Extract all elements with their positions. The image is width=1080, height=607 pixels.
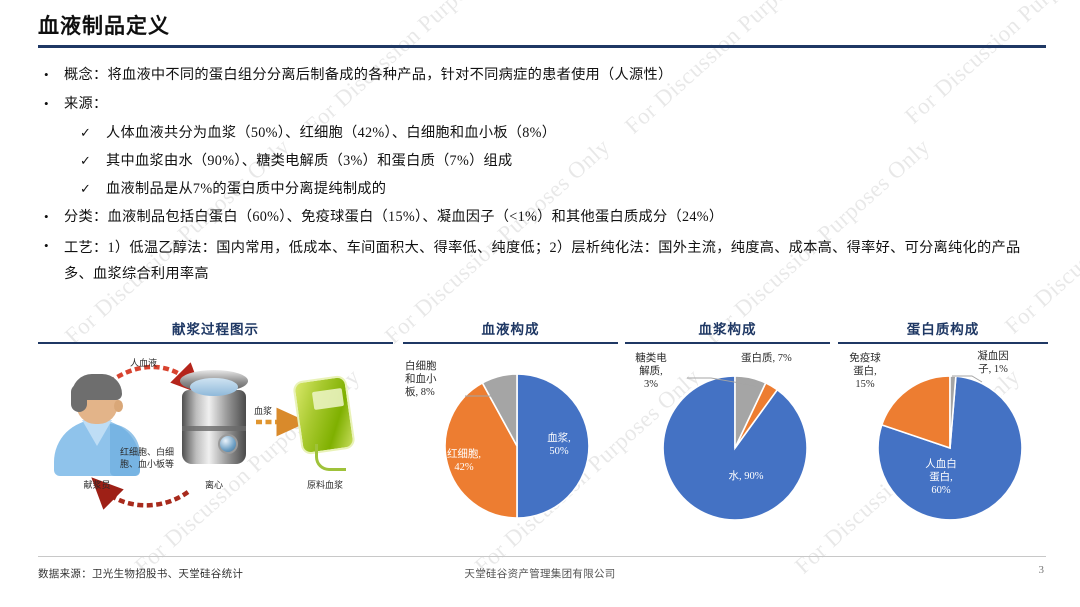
charts-row: 献浆过程图示 <box>0 322 1080 537</box>
sub-bullet-text: 其中血浆由水（90%）、糖类电解质（3%）和蛋白质（7%）组成 <box>106 150 513 172</box>
plasma-bag-icon <box>293 378 355 472</box>
label-return-flow: 红细胞、白细胞、血小板等 <box>114 446 180 470</box>
check-icon: ✓ <box>80 122 106 144</box>
sub-bullet-text: 人体血液共分为血浆（50%）、红细胞（42%）、白细胞和血小板（8%） <box>106 122 556 144</box>
centrifuge-icon <box>178 370 250 474</box>
centrifuge-knob <box>218 434 238 454</box>
bullet-text: 工艺：1）低温乙醇法：国内常用，低成本、车间面积大、得率低、纯度低；2）层析纯化… <box>64 235 1029 287</box>
bullet-source: • 来源： <box>38 93 1048 115</box>
pie-label-rbc: 红细胞, 42% <box>433 448 495 474</box>
panel-divider <box>403 342 618 344</box>
bullet-classification: • 分类：血液制品包括白蛋白（60%）、免疫球蛋白（15%）、凝血因子（<1%）… <box>38 206 1048 228</box>
centrifuge-band <box>182 426 246 431</box>
sub-bullet-purification: ✓ 血液制品是从7%的蛋白质中分离提纯制成的 <box>38 178 1048 200</box>
panel-blood-composition: 血液构成 血浆, 50% <box>403 322 618 528</box>
panel-title: 血浆构成 <box>625 322 830 338</box>
label-raw-plasma: 原料血浆 <box>284 478 366 491</box>
bullet-text: 分类：血液制品包括白蛋白（60%）、免疫球蛋白（15%）、凝血因子（<1%）和其… <box>64 206 723 228</box>
panel-protein-composition: 蛋白质构成 人血白 蛋白, 60 <box>838 322 1048 528</box>
footer-company: 天堂硅谷资产管理集团有限公司 <box>0 566 1080 581</box>
donor-ear <box>114 400 123 412</box>
label-plasma-flow: 血浆 <box>254 404 272 417</box>
pie-label-plasma: 血浆, 50% <box>531 432 587 458</box>
donor-sideburn <box>71 384 87 412</box>
pie-label-water: 水, 90% <box>711 470 781 483</box>
bullet-concept: • 概念：将血液中不同的蛋白组分分离后制备成的各种产品，针对不同病症的患者使用（… <box>38 64 1048 86</box>
pie-label-albumin: 人血白 蛋白, 60% <box>908 458 974 497</box>
label-blood-flow: 人血液 <box>130 356 157 369</box>
label-centrifuge: 离心 <box>174 478 254 491</box>
plasma-bag-tube <box>315 444 346 471</box>
bullet-marker: • <box>38 93 64 114</box>
label-donor: 献浆员 <box>52 478 142 491</box>
centrifuge-rotor <box>190 378 238 396</box>
footer-divider <box>38 556 1046 557</box>
pie-label-immunoglobulin: 免疫球 蛋白, 15% <box>838 352 892 391</box>
pie-label-wbc-platelet: 白细胞 和血小 板, 8% <box>405 360 457 399</box>
bullet-marker: • <box>38 235 64 256</box>
bullet-text: 概念：将血液中不同的蛋白组分分离后制备成的各种产品，针对不同病症的患者使用（人源… <box>64 64 672 86</box>
bullet-marker: • <box>38 206 64 227</box>
pie-label-coagulation-factor: 凝血因 子, 1% <box>966 350 1020 376</box>
page-title-block: 血液制品定义 <box>38 14 1048 48</box>
process-diagram: 献浆员 离心 原料血浆 人血液 血浆 红细胞、白细胞、血小板等 <box>38 352 393 522</box>
panel-title: 献浆过程图示 <box>38 322 393 338</box>
bullet-process: • 工艺：1）低温乙醇法：国内常用，低成本、车间面积大、得率低、纯度低；2）层析… <box>38 235 1048 287</box>
panel-title: 蛋白质构成 <box>838 322 1048 338</box>
pie-chart-protein: 人血白 蛋白, 60% 免疫球 蛋白, 15% 凝血因 子, 1% <box>838 348 1048 528</box>
panel-plasma-composition: 血浆构成 水, 90% 糖类电 解质, 3% 蛋白质, 7% <box>625 322 830 528</box>
pie-label-protein: 蛋白质, 7% <box>741 352 827 365</box>
sub-bullet-blood-split: ✓ 人体血液共分为血浆（50%）、红细胞（42%）、白细胞和血小板（8%） <box>38 122 1048 144</box>
title-divider <box>38 45 1046 48</box>
pie-chart-plasma: 水, 90% 糖类电 解质, 3% 蛋白质, 7% <box>625 348 830 528</box>
sub-bullet-plasma-split: ✓ 其中血浆由水（90%）、糖类电解质（3%）和蛋白质（7%）组成 <box>38 150 1048 172</box>
pie-label-electrolyte: 糖类电 解质, 3% <box>627 352 675 391</box>
pie-protein-svg <box>856 372 1042 528</box>
check-icon: ✓ <box>80 150 106 172</box>
panel-title: 血液构成 <box>403 322 618 338</box>
page-number: 3 <box>1039 564 1045 576</box>
slide-root: For Discussion Purposes Only For Discuss… <box>0 0 1080 607</box>
panel-divider <box>838 342 1048 344</box>
panel-divider <box>625 342 830 344</box>
check-icon: ✓ <box>80 178 106 200</box>
bullet-text: 来源： <box>64 93 107 115</box>
pie-chart-blood: 血浆, 50% 红细胞, 42% 白细胞 和血小 板, 8% <box>403 348 618 528</box>
panel-divider <box>38 342 393 344</box>
page-title: 血液制品定义 <box>38 14 1048 39</box>
pie-plasma-svg <box>643 372 823 528</box>
bullet-marker: • <box>38 64 64 85</box>
body-content: • 概念：将血液中不同的蛋白组分分离后制备成的各种产品，针对不同病症的患者使用（… <box>38 64 1048 294</box>
sub-bullet-text: 血液制品是从7%的蛋白质中分离提纯制成的 <box>106 178 386 200</box>
panel-process-diagram: 献浆过程图示 <box>38 322 393 522</box>
